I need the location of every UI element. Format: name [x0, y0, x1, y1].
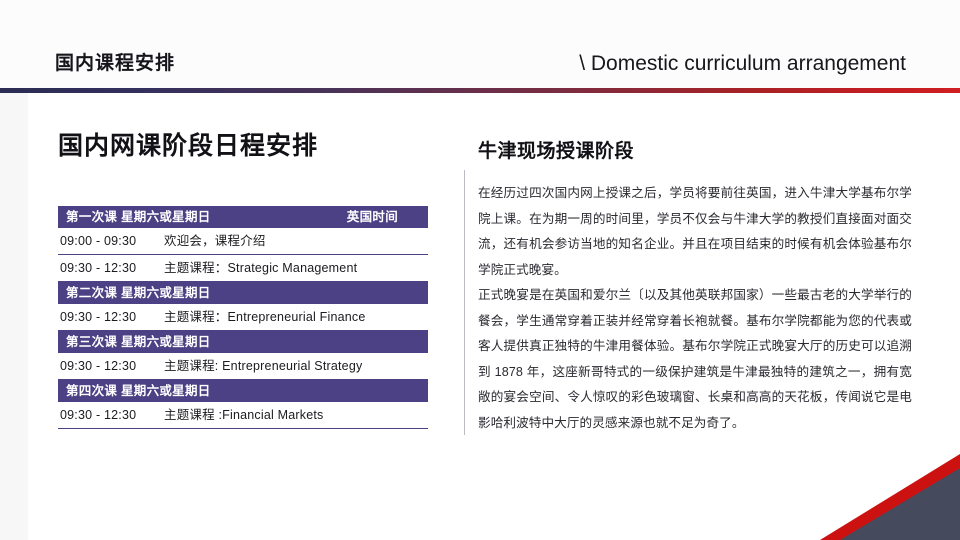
- schedule-row: 09:30 - 12:30 主题课程: Entrepreneurial Stra…: [58, 353, 428, 380]
- right-column-body: 在经历过四次国内网上授课之后，学员将要前往英国，进入牛津大学基布尔学院上课。在为…: [478, 181, 912, 436]
- schedule-row-time: 09:30 - 12:30: [60, 402, 164, 429]
- column-divider: [464, 170, 465, 435]
- left-column-title: 国内网课阶段日程安排: [58, 126, 448, 162]
- schedule-row-time: 09:00 - 09:30: [60, 228, 164, 255]
- schedule-row-time: 09:30 - 12:30: [60, 304, 164, 331]
- body-paragraph: 正式晚宴是在英国和爱尔兰〔以及其他英联邦国家）一些最古老的大学举行的餐会，学生通…: [478, 283, 912, 436]
- schedule-row-desc: 主题课程: Entrepreneurial Strategy: [164, 353, 362, 380]
- schedule-section-label: 第一次课 星期六或星期日: [66, 206, 211, 228]
- slide-header: 国内课程安排 \ Domestic curriculum arrangement: [0, 0, 960, 88]
- schedule-section-label: 第四次课 星期六或星期日: [66, 380, 211, 402]
- schedule-row-desc: 主题课程 :Financial Markets: [164, 402, 324, 429]
- left-column: 国内网课阶段日程安排 第一次课 星期六或星期日 英国时间 09:00 - 09:…: [58, 126, 448, 429]
- right-column-title: 牛津现场授课阶段: [478, 136, 912, 163]
- header-accent-rule: [0, 88, 960, 93]
- schedule-section-heading: 第四次课 星期六或星期日: [58, 380, 428, 402]
- header-title-zh: 国内课程安排: [55, 48, 175, 75]
- schedule-section-heading: 第三次课 星期六或星期日: [58, 331, 428, 353]
- schedule-row: 09:30 - 12:30 主题课程 :Financial Markets: [58, 402, 428, 429]
- schedule-table: 第一次课 星期六或星期日 英国时间 09:00 - 09:30 欢迎会，课程介绍…: [58, 206, 428, 429]
- schedule-section-label: 第三次课 星期六或星期日: [66, 331, 211, 353]
- schedule-row-desc: 主题课程：Entrepreneurial Finance: [164, 304, 366, 331]
- schedule-row-desc: 主题课程：Strategic Management: [164, 255, 357, 282]
- schedule-row: 09:00 - 09:30 欢迎会，课程介绍: [58, 228, 428, 255]
- corner-decoration: [820, 448, 960, 540]
- body-paragraph: 在经历过四次国内网上授课之后，学员将要前往英国，进入牛津大学基布尔学院上课。在为…: [478, 181, 912, 283]
- schedule-row-time: 09:30 - 12:30: [60, 353, 164, 380]
- schedule-section-heading: 第一次课 星期六或星期日 英国时间: [58, 206, 428, 228]
- schedule-row: 09:30 - 12:30 主题课程：Entrepreneurial Finan…: [58, 304, 428, 331]
- header-title-en: \ Domestic curriculum arrangement: [579, 52, 906, 76]
- corner-dark-triangle: [840, 468, 960, 540]
- schedule-section-label: 第二次课 星期六或星期日: [66, 282, 211, 304]
- schedule-timezone-label: 英国时间: [347, 206, 420, 228]
- schedule-row-time: 09:30 - 12:30: [60, 255, 164, 282]
- schedule-row: 09:30 - 12:30 主题课程：Strategic Management: [58, 255, 428, 282]
- slide-canvas: 国内课程安排 \ Domestic curriculum arrangement…: [0, 0, 960, 540]
- schedule-row-desc: 欢迎会，课程介绍: [164, 228, 266, 255]
- schedule-section-heading: 第二次课 星期六或星期日: [58, 282, 428, 304]
- right-column: 牛津现场授课阶段 在经历过四次国内网上授课之后，学员将要前往英国，进入牛津大学基…: [478, 136, 912, 436]
